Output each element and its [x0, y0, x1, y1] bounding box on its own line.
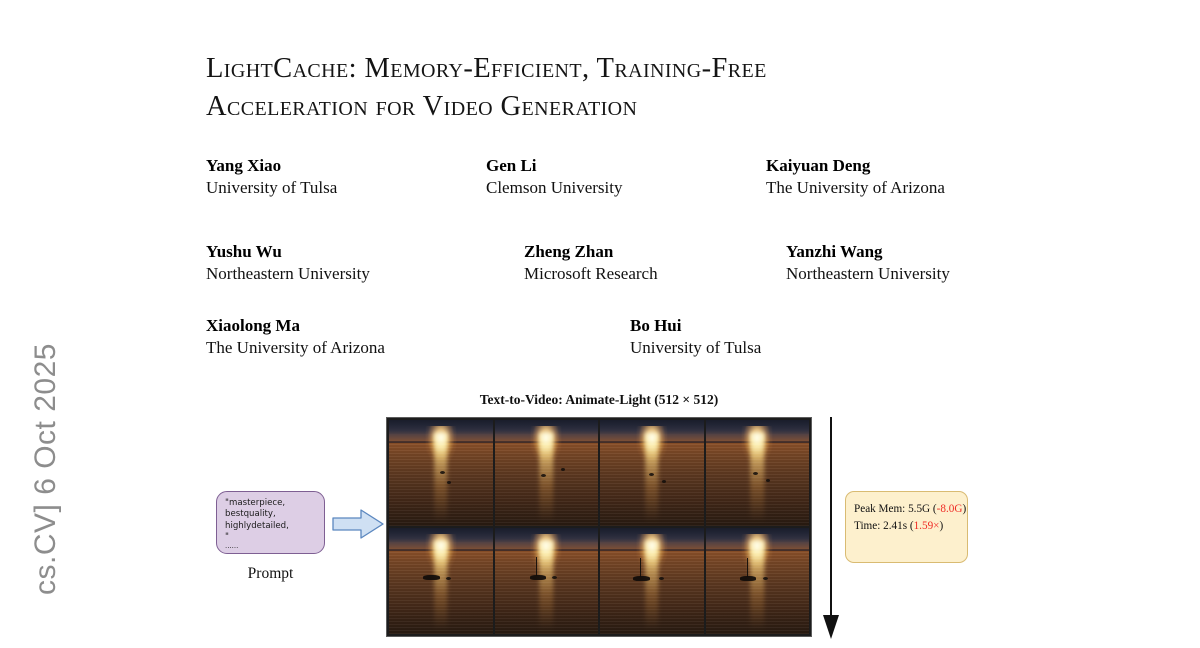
- paper-preview-page: cs.CV] 6 Oct 2025 LightCache: Memory-Eff…: [0, 0, 1200, 648]
- video-frame: [389, 528, 493, 634]
- down-arrow-icon: [818, 415, 844, 641]
- video-frame: [495, 420, 599, 526]
- video-frame-grid: [386, 417, 812, 637]
- peak-mem-delta: -8.0G: [937, 503, 963, 515]
- peak-mem-close: ): [962, 503, 966, 515]
- teaser-figure: Text-to-Video: Animate-Light (512 × 512)…: [0, 0, 1200, 648]
- figure-caption: Text-to-Video: Animate-Light (512 × 512): [387, 392, 811, 408]
- prompt-line: ......: [225, 544, 317, 549]
- prompt-line: ": [225, 532, 317, 543]
- peak-mem-line: Peak Mem: 5.5G (-8.0G): [854, 501, 960, 518]
- prompt-line: "masterpiece,: [225, 498, 317, 509]
- time-speedup: 1.59×: [914, 520, 940, 532]
- prompt-line: bestquality,: [225, 509, 317, 520]
- peak-mem-label: Peak Mem: 5.5G (: [854, 503, 937, 515]
- video-frame: [706, 528, 810, 634]
- video-frame: [600, 420, 704, 526]
- time-close: ): [939, 520, 943, 532]
- video-frame: [389, 420, 493, 526]
- right-block-arrow-icon: [332, 508, 384, 540]
- prompt-box: "masterpiece, bestquality, highlydetaile…: [216, 491, 325, 554]
- prompt-line: highlydetailed,: [225, 521, 317, 532]
- video-frame: [600, 528, 704, 634]
- prompt-label: Prompt: [216, 565, 325, 583]
- video-frame: [495, 528, 599, 634]
- time-line: Time: 2.41s (1.59×): [854, 518, 960, 535]
- video-frame: [706, 420, 810, 526]
- results-callout: Peak Mem: 5.5G (-8.0G) Time: 2.41s (1.59…: [845, 491, 968, 563]
- time-label: Time: 2.41s (: [854, 520, 914, 532]
